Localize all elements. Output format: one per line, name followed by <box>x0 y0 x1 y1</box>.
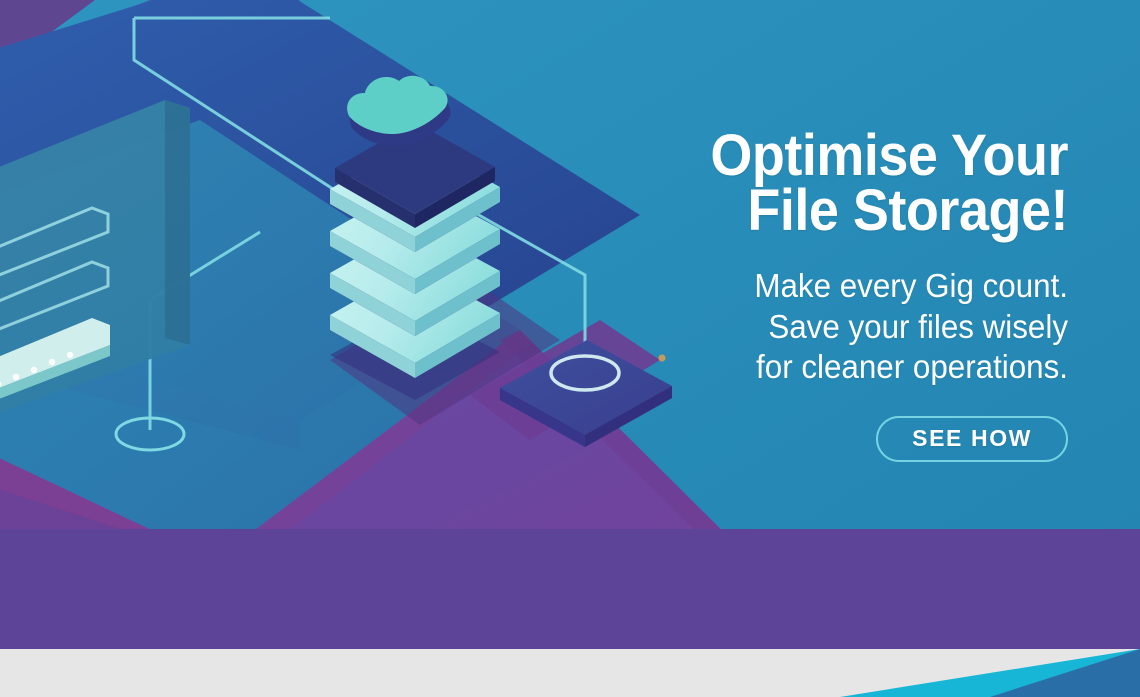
promo-banner: Optimise Your File Storage! Make every G… <box>0 0 1140 697</box>
cta-container: SEE HOW <box>673 416 1068 462</box>
subhead-line-2: Save your files wisely <box>693 307 1068 348</box>
subhead-line-3: for cleaner operations. <box>693 347 1068 388</box>
subhead-line-1: Make every Gig count. <box>693 266 1068 307</box>
headline-line-1: Optimise Your <box>701 128 1068 183</box>
page-title: Optimise Your File Storage! <box>701 128 1068 238</box>
promo-subheadline: Make every Gig count. Save your files wi… <box>693 266 1068 388</box>
promo-text-panel: Optimise Your File Storage! Make every G… <box>673 128 1068 462</box>
headline-line-2: File Storage! <box>701 183 1068 238</box>
see-how-button[interactable]: SEE HOW <box>876 416 1068 462</box>
